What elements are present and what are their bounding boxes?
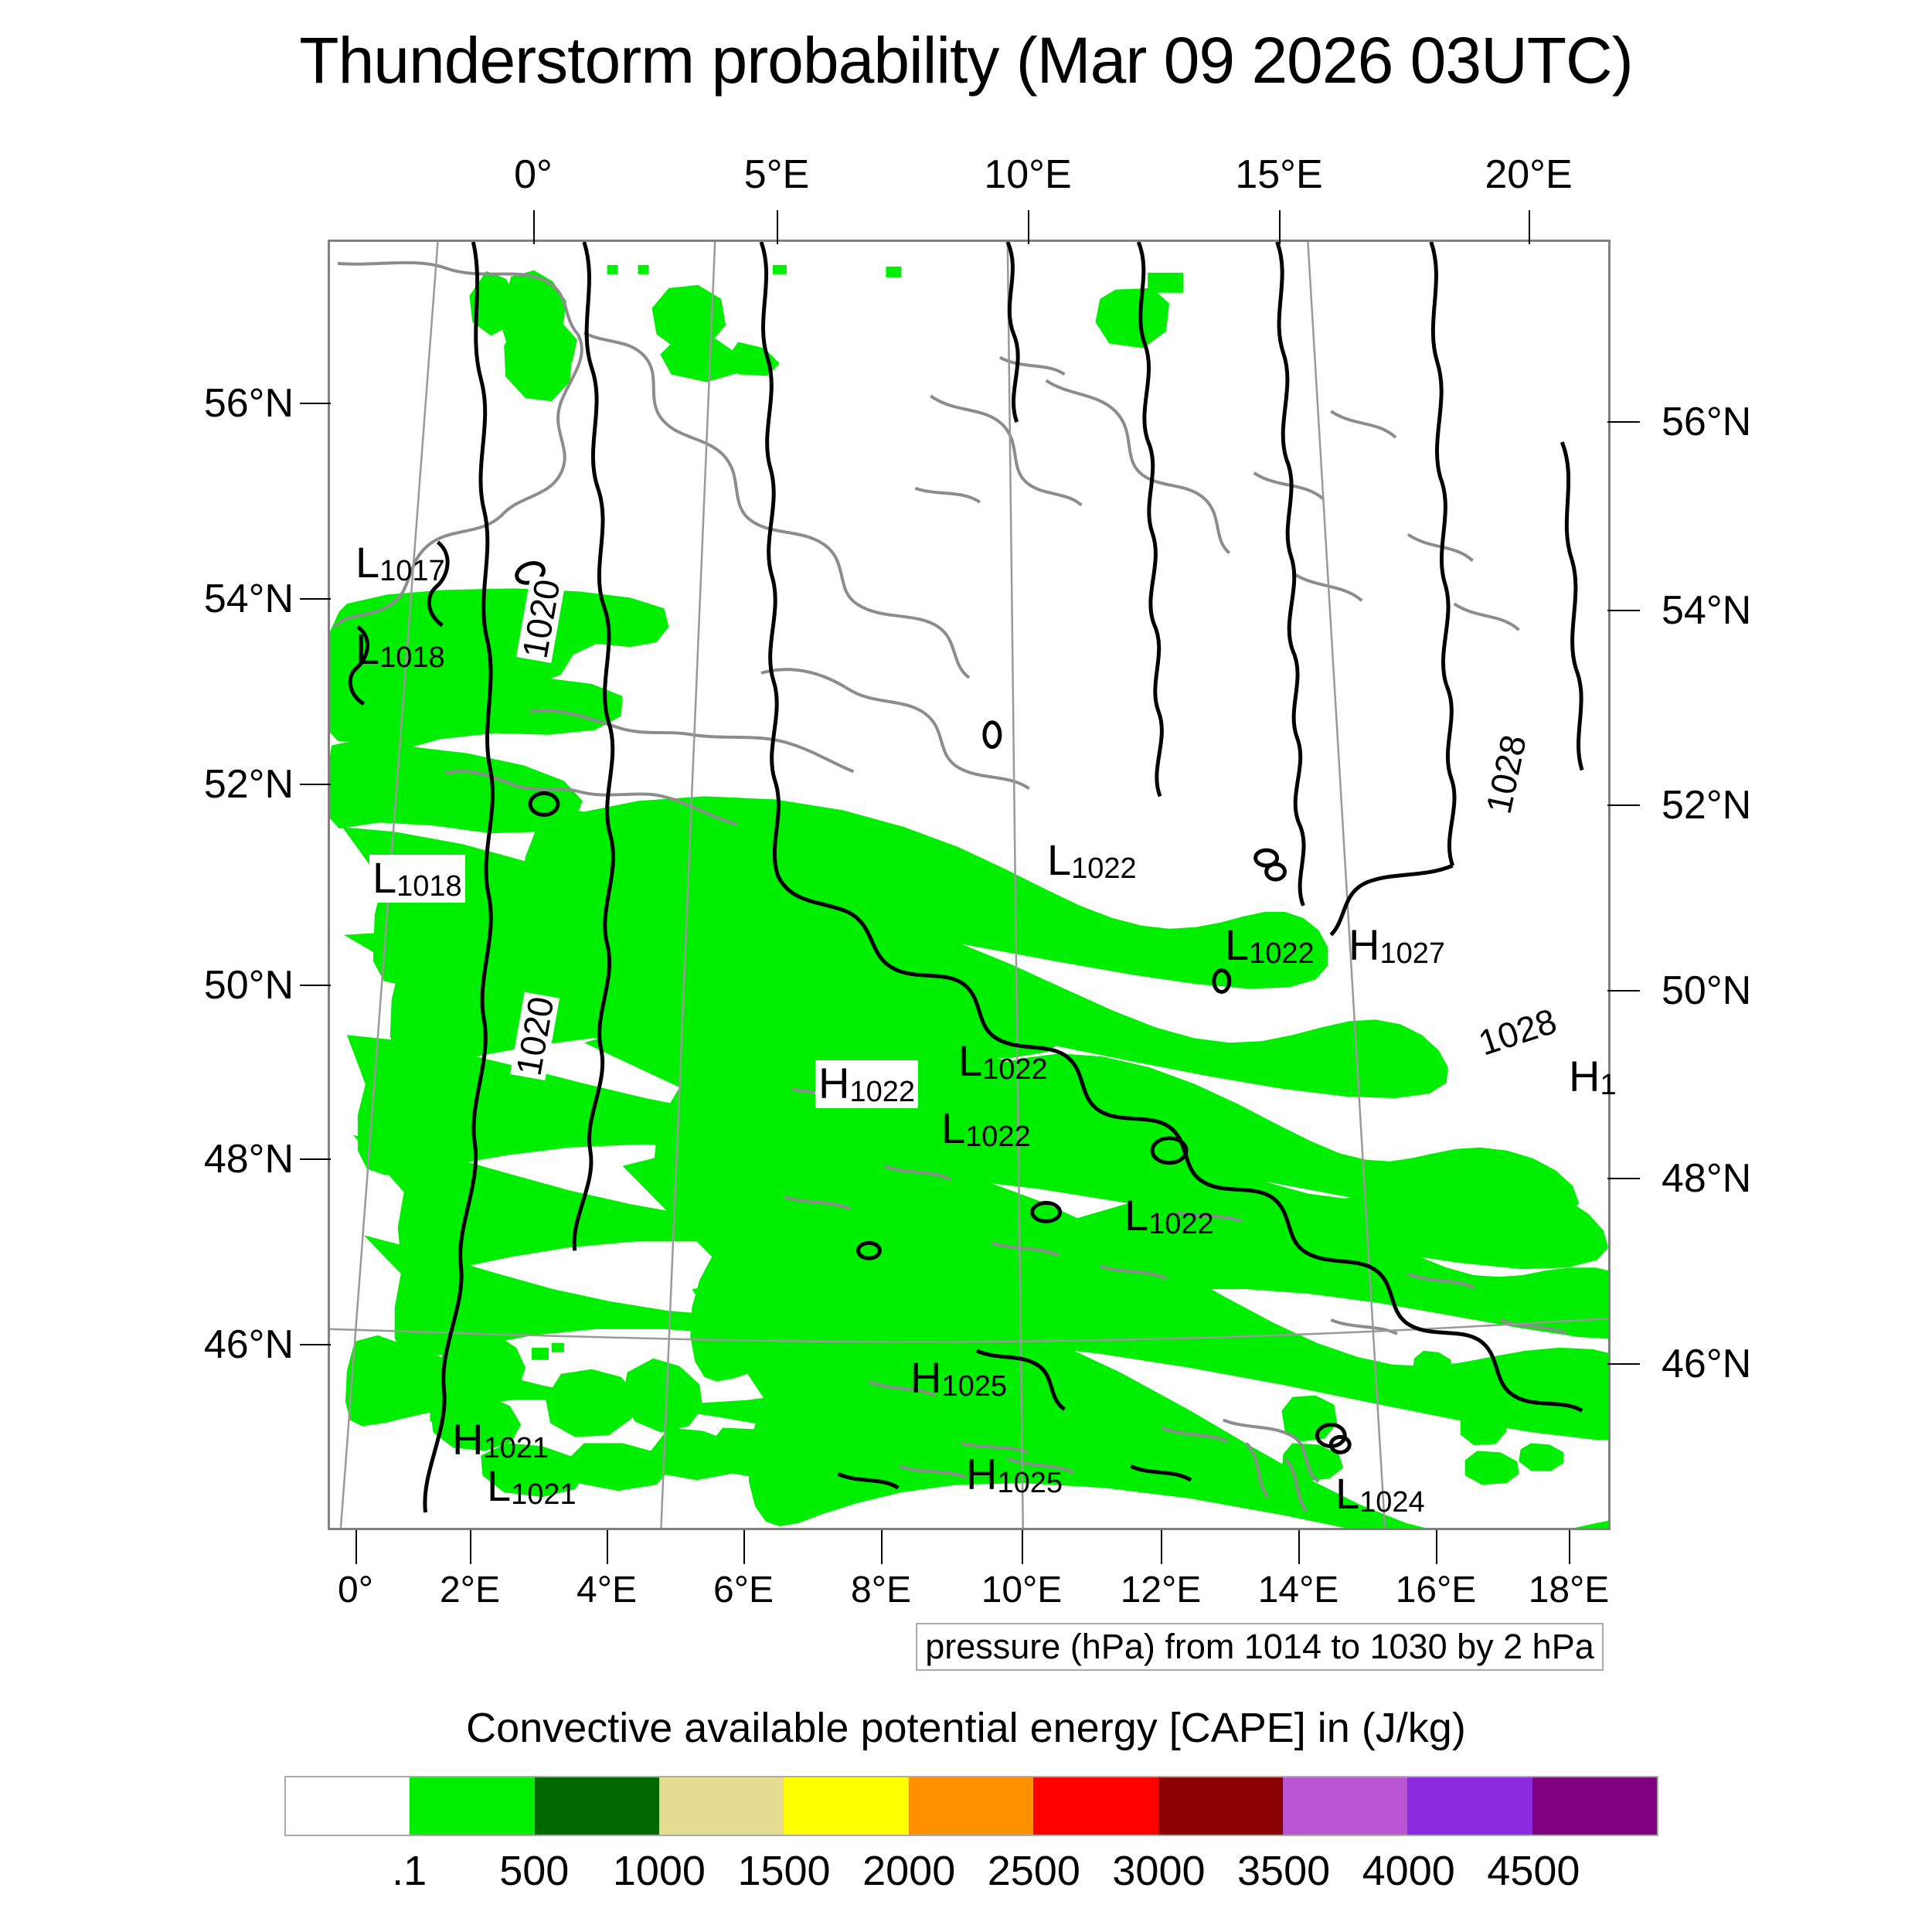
pressure-marker-value: 1024 [1359, 1486, 1425, 1519]
axis-tick-mark-right [1607, 610, 1640, 611]
pressure-marker-value: 1021 [511, 1478, 577, 1511]
axis-tick-mark-right [1607, 1363, 1640, 1365]
axis-tick-left: 54°N [174, 576, 294, 622]
pressure-marker-low: L1022 [1225, 923, 1315, 968]
axis-tick-top: 20°E [1485, 151, 1572, 198]
colorbar-tick: 1000 [613, 1847, 706, 1895]
colorbar-tick: 4500 [1487, 1847, 1580, 1895]
colorbar-segment-1 [410, 1777, 534, 1835]
axis-tick-mark-top [1028, 210, 1029, 244]
pressure-marker-type: L [941, 1104, 965, 1152]
pressure-marker-low: L1022 [958, 1039, 1048, 1084]
pressure-marker-value: 1025 [997, 1467, 1063, 1499]
pressure-marker-type: H [818, 1059, 849, 1107]
pressure-legend-text: pressure (hPa) from 1014 to 1030 by 2 hP… [925, 1627, 1594, 1667]
colorbar-segment-6 [1033, 1777, 1158, 1835]
axis-tick-right: 54°N [1662, 587, 1751, 634]
axis-tick-mark-right [1607, 804, 1640, 806]
pressure-marker-type: H [1349, 920, 1379, 969]
pressure-marker-type: L [958, 1036, 982, 1085]
colorbar-segment-3 [659, 1777, 784, 1835]
pressure-marker-low: L1022 [941, 1107, 1031, 1151]
axis-tick-left: 46°N [174, 1321, 294, 1368]
axis-tick-mark-right [1607, 421, 1640, 423]
axis-tick-bottom: 12°E [1121, 1569, 1202, 1611]
pressure-marker-type: H [966, 1450, 997, 1498]
colorbar-segment-5 [909, 1777, 1033, 1835]
pressure-marker-high: H1025 [910, 1356, 1007, 1401]
axis-tick-mark-left [300, 985, 331, 986]
axis-tick-mark-bottom [1436, 1530, 1437, 1564]
colorbar-tick: 500 [499, 1847, 569, 1895]
pressure-marker-type: L [355, 624, 379, 673]
map-graphic [330, 242, 1608, 1528]
pressure-marker-low: L1018 [369, 855, 465, 903]
axis-tick-mark-bottom [470, 1530, 471, 1564]
axis-tick-bottom: 0° [338, 1569, 373, 1611]
colorbar-segment-2 [535, 1777, 659, 1835]
axis-tick-right: 50°N [1662, 968, 1751, 1014]
pressure-marker-value: 1022 [982, 1053, 1048, 1086]
pressure-marker-type: H [910, 1353, 941, 1402]
axis-tick-mark-bottom [1022, 1530, 1023, 1564]
axis-tick-mark-bottom [743, 1530, 745, 1564]
axis-tick-mark-top [1279, 210, 1281, 244]
pressure-marker-value: 1021 [483, 1432, 549, 1464]
colorbar-segment-8 [1283, 1777, 1407, 1835]
axis-tick-mark-bottom [355, 1530, 357, 1564]
axis-tick-top: 0° [514, 151, 553, 198]
colorbar-tick: 1500 [737, 1847, 830, 1895]
pressure-marker-type: H [1569, 1052, 1600, 1100]
pressure-marker-type: H [452, 1415, 483, 1464]
axis-tick-top: 5°E [744, 151, 809, 198]
pressure-marker-low: L1021 [487, 1464, 577, 1509]
pressure-marker-low: L1024 [1335, 1472, 1425, 1517]
axis-tick-mark-bottom [1569, 1530, 1570, 1564]
colorbar-segment-7 [1158, 1777, 1283, 1835]
axis-tick-mark-right [1607, 990, 1640, 992]
pressure-marker-value: 1 [1600, 1069, 1616, 1101]
axis-tick-mark-bottom [1298, 1530, 1300, 1564]
axis-tick-bottom: 10°E [981, 1569, 1063, 1611]
axis-tick-mark-bottom [881, 1530, 883, 1564]
axis-tick-left: 48°N [174, 1136, 294, 1182]
colorbar-segment-4 [784, 1777, 908, 1835]
colorbar-tick: .1 [392, 1847, 427, 1895]
pressure-marker-high: H1025 [966, 1453, 1063, 1498]
pressure-marker-value: 1025 [941, 1370, 1007, 1403]
axis-tick-bottom: 8°E [851, 1569, 911, 1611]
pressure-marker-low: L1017 [355, 541, 445, 586]
axis-tick-bottom: 2°E [440, 1569, 500, 1611]
pressure-marker-type: L [487, 1461, 511, 1510]
pressure-legend-box: pressure (hPa) from 1014 to 1030 by 2 hP… [916, 1623, 1604, 1671]
map-plot-area [328, 240, 1611, 1530]
pressure-marker-type: L [355, 538, 379, 587]
axis-tick-bottom: 4°E [577, 1569, 637, 1611]
axis-tick-right: 52°N [1662, 782, 1751, 828]
axis-tick-mark-right [1607, 1178, 1640, 1179]
pressure-marker-value: 1022 [849, 1076, 915, 1108]
cape-shading-layer [330, 265, 1608, 1528]
pressure-marker-value: 1022 [1249, 937, 1315, 970]
colorbar-title: Convective available potential energy [C… [0, 1704, 1932, 1752]
pressure-marker-type: L [1225, 920, 1249, 969]
colorbar-segment-10 [1532, 1777, 1657, 1835]
axis-tick-right: 56°N [1662, 399, 1751, 445]
axis-tick-mark-bottom [1161, 1530, 1162, 1564]
page-title: Thunderstorm probability (Mar 09 2026 03… [0, 23, 1932, 98]
colorbar-tick: 2000 [862, 1847, 955, 1895]
pressure-marker-high: H1022 [815, 1060, 918, 1108]
pressure-marker-value: 1018 [396, 870, 462, 903]
axis-tick-top: 10°E [984, 151, 1071, 198]
axis-tick-top: 15°E [1235, 151, 1322, 198]
pressure-marker-type: L [1335, 1469, 1359, 1518]
axis-tick-left: 50°N [174, 962, 294, 1009]
pressure-marker-high: H1021 [452, 1418, 549, 1463]
axis-tick-mark-left [300, 403, 331, 404]
axis-tick-mark-left [300, 784, 331, 785]
pressure-marker-low: L1022 [1047, 838, 1137, 883]
axis-tick-mark-left [300, 1158, 331, 1160]
axis-tick-mark-bottom [607, 1530, 608, 1564]
pressure-marker-type: L [372, 853, 396, 902]
pressure-marker-high: H1027 [1349, 923, 1445, 968]
axis-tick-mark-left [300, 1344, 331, 1345]
pressure-marker-low: L1022 [1124, 1194, 1214, 1239]
axis-tick-right: 46°N [1662, 1341, 1751, 1387]
axis-tick-bottom: 18°E [1529, 1569, 1610, 1611]
pressure-marker-value: 1018 [379, 641, 445, 674]
colorbar-tick: 3500 [1237, 1847, 1330, 1895]
axis-tick-left: 52°N [174, 761, 294, 808]
axis-tick-mark-top [777, 210, 778, 244]
pressure-marker-value: 1022 [1148, 1208, 1214, 1240]
colorbar-tick: 3000 [1112, 1847, 1205, 1895]
colorbar [284, 1776, 1658, 1836]
pressure-marker-type: L [1124, 1191, 1148, 1240]
pressure-marker-low: L1018 [355, 628, 445, 672]
pressure-marker-value: 1017 [379, 555, 445, 587]
colorbar-tick: 2500 [988, 1847, 1080, 1895]
pressure-marker-high: H1 [1569, 1055, 1617, 1100]
colorbar-segment-0 [286, 1777, 410, 1835]
axis-tick-mark-top [533, 210, 535, 244]
pressure-marker-value: 1022 [965, 1121, 1031, 1153]
pressure-marker-type: L [1047, 835, 1071, 884]
colorbar-tick: 4000 [1362, 1847, 1455, 1895]
axis-tick-mark-left [300, 598, 331, 600]
axis-tick-mark-top [1529, 210, 1530, 244]
pressure-marker-value: 1022 [1071, 852, 1137, 885]
colorbar-segment-9 [1407, 1777, 1532, 1835]
axis-tick-bottom: 14°E [1258, 1569, 1339, 1611]
colorbar-tick-labels: .150010001500200025003000350040004500 [284, 1847, 1658, 1901]
pressure-marker-value: 1027 [1379, 937, 1445, 970]
axis-tick-bottom: 6°E [713, 1569, 774, 1611]
axis-tick-right: 48°N [1662, 1155, 1751, 1202]
axis-tick-left: 56°N [174, 380, 294, 427]
axis-tick-bottom: 16°E [1396, 1569, 1477, 1611]
